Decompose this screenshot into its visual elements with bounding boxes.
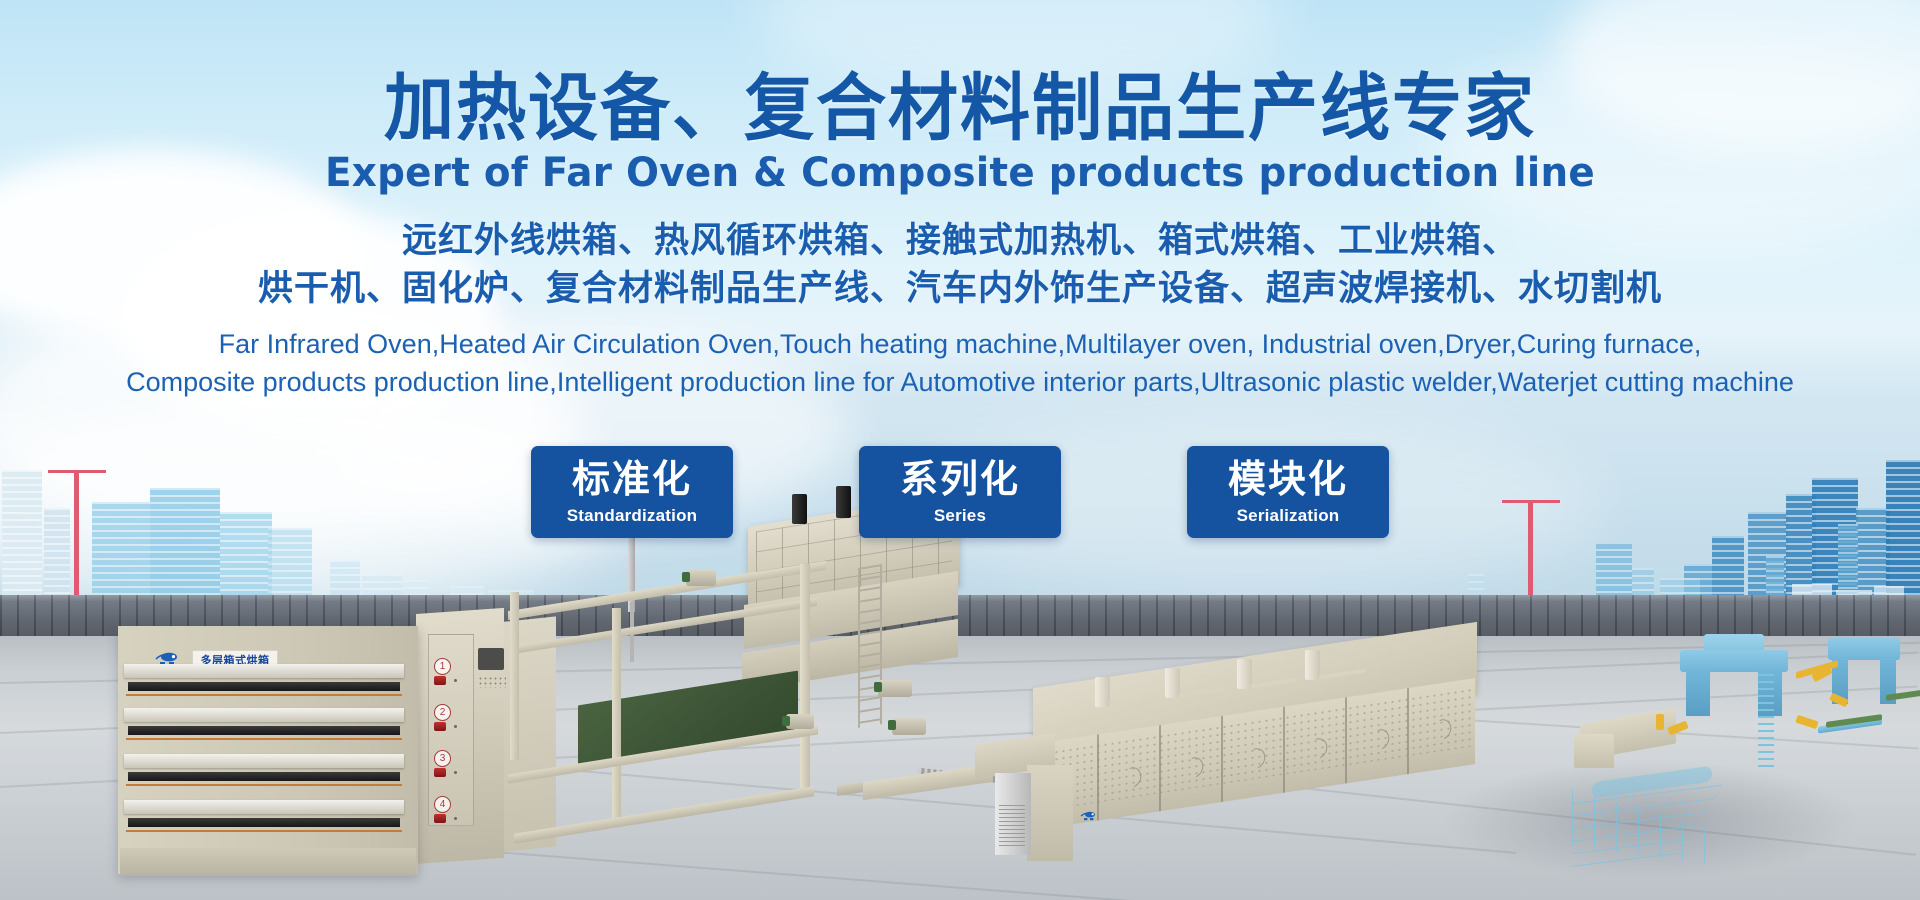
oven-status-dot: [454, 679, 457, 682]
oven-tray: [128, 726, 400, 735]
oven-shelf-indicator: 4: [434, 796, 451, 813]
badge-label-zh: 模块化: [1228, 460, 1348, 498]
drive-motor: [878, 680, 912, 697]
oven-shelf-knob[interactable]: [434, 768, 446, 777]
frame-base-beam: [514, 786, 814, 844]
oven-status-dot: [454, 725, 457, 728]
oven-shelf-indicator: 2: [434, 704, 451, 721]
oven-chimney: [1237, 659, 1252, 689]
oven-status-dot: [454, 817, 457, 820]
badge-label-zh: 系列化: [900, 460, 1020, 498]
oven-panel-divider: [1097, 734, 1099, 820]
wireframe-line: [1660, 814, 1661, 858]
press-ladder: [858, 564, 882, 728]
tunnel-oven-end-cabinet: [1027, 765, 1073, 861]
drive-motor: [686, 570, 716, 586]
oven-chimney: [1305, 650, 1320, 680]
wireframe-line: [1572, 790, 1573, 846]
oven-tray: [128, 772, 400, 781]
page-subtitle: Expert of Far Oven & Composite products …: [29, 151, 1891, 195]
badge-standardization[interactable]: 标准化 Standardization: [531, 446, 733, 538]
oven-panel-divider: [1159, 725, 1161, 811]
machine-automated-press-line: [1590, 640, 1920, 900]
oven-panel-divider: [1221, 716, 1223, 802]
oven-shelf-indicator: 3: [434, 750, 451, 767]
frame-post: [510, 592, 519, 760]
drive-motor: [786, 714, 814, 729]
product-list-en: Far Infrared Oven,Heated Air Circulation…: [0, 325, 1920, 402]
badge-label-en: Serialization: [1237, 507, 1340, 524]
product-line-zh: 远红外线烘箱、热风循环烘箱、接触式加热机、箱式烘箱、工业烘箱、: [0, 217, 1920, 265]
oven-heater-bar: [126, 784, 402, 786]
oven-panel-divider: [1345, 697, 1347, 783]
oven-shelf-knob[interactable]: [434, 722, 446, 731]
wireframe-line: [1572, 839, 1690, 855]
press-access-stairs: [1758, 674, 1774, 770]
oven-heater-bar: [126, 694, 402, 696]
wireframe-line: [1572, 852, 1682, 867]
robot-arm: [1795, 715, 1818, 729]
oven-chimney: [1165, 668, 1180, 698]
oven-body: 多层箱式烘箱: [118, 626, 418, 874]
badge-label-en: Series: [934, 507, 986, 524]
oven-shelf: [124, 664, 404, 678]
product-line-en: Far Infrared Oven,Heated Air Circulation…: [0, 325, 1920, 363]
oven-heater-bar: [126, 738, 402, 740]
oven-tray: [128, 818, 400, 827]
oven-tray: [128, 682, 400, 691]
wireframe-equipment: [1572, 780, 1762, 890]
cabinet-grill-icon: [999, 805, 1025, 849]
hydraulic-press-secondary: [1828, 638, 1900, 694]
oven-chimney: [1095, 677, 1110, 707]
oven-heater-bar: [126, 830, 402, 832]
robot-arm: [1656, 714, 1664, 730]
product-line-en: Composite products production line,Intel…: [0, 363, 1920, 401]
oven-shelf-knob[interactable]: [434, 676, 446, 685]
banner-text-block: 加热设备、复合材料制品生产线专家 Expert of Far Oven & Co…: [0, 0, 1920, 401]
wireframe-line: [1704, 826, 1705, 864]
product-list-zh: 远红外线烘箱、热风循环烘箱、接触式加热机、箱式烘箱、工业烘箱、 烘干机、固化炉、…: [0, 217, 1920, 314]
product-line-zh: 烘干机、固化炉、复合材料制品生产线、汽车内外饰生产设备、超声波焊接机、水切割机: [0, 265, 1920, 313]
oven-status-dot: [454, 771, 457, 774]
badge-label-en: Standardization: [567, 507, 698, 524]
oven-panel-divider: [1407, 688, 1409, 774]
page-title: 加热设备、复合材料制品生产线专家: [38, 0, 1881, 145]
drive-motor: [892, 718, 926, 735]
wireframe-line: [1594, 796, 1595, 849]
frame-post: [612, 608, 621, 820]
line-beige-unit: [1574, 734, 1614, 768]
oven-shelf-indicator: 1: [434, 658, 451, 675]
hero-banner: 多层箱式烘箱 1234: [0, 0, 1920, 900]
feature-badges: 标准化 Standardization 系列化 Series 模块化 Seria…: [0, 446, 1920, 538]
oven-shelf: [124, 800, 404, 814]
badge-series[interactable]: 系列化 Series: [859, 446, 1061, 538]
machine-multilayer-oven: 多层箱式烘箱 1234: [118, 608, 548, 893]
frame-post: [800, 564, 810, 792]
oven-shelf: [124, 708, 404, 722]
oven-shelf: [124, 754, 404, 768]
oven-panel-divider: [1283, 707, 1285, 793]
machine-contact-heating-press: [500, 492, 960, 892]
oven-shelf-knob[interactable]: [434, 814, 446, 823]
badge-label-zh: 标准化: [572, 460, 692, 498]
brand-logo-icon: [1079, 811, 1099, 821]
oven-base: [120, 848, 416, 876]
badge-serialization[interactable]: 模块化 Serialization: [1187, 446, 1389, 538]
machine-tunnel-oven: [975, 655, 1535, 885]
